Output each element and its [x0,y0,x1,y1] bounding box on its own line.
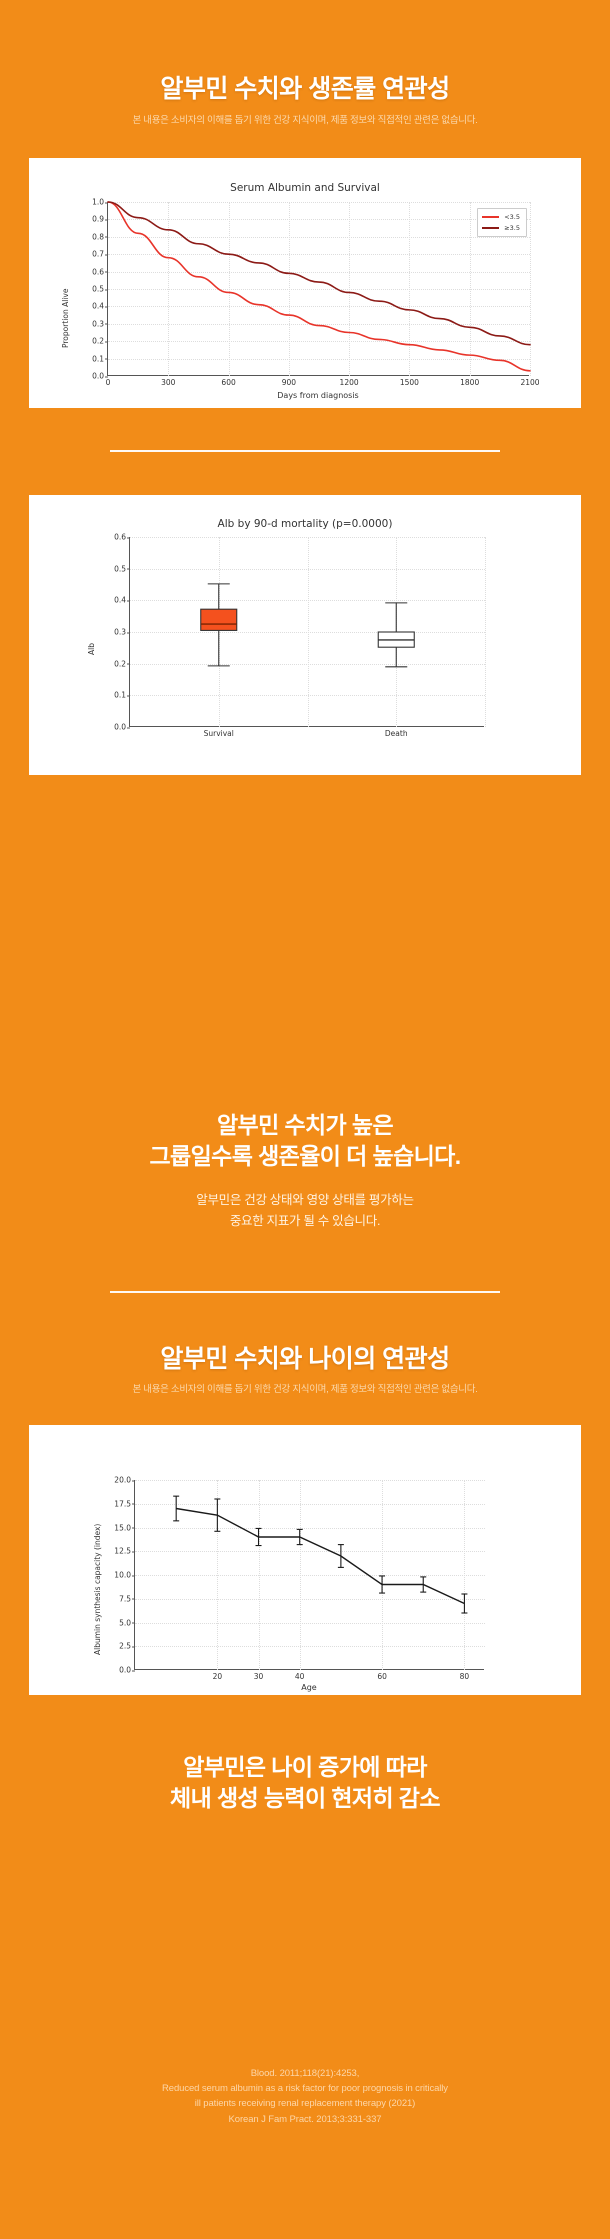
chart3-xtick: 80 [460,1672,470,1681]
chart2-ytick: 0.2 [114,659,126,668]
chart2-ytick: 0.5 [114,564,126,573]
chart1-axes: 0.0 0.1 0.2 0.3 0.4 0.5 0.6 0.7 0.8 0.9 … [107,202,529,376]
chart2-title: Alb by 90-d mortality (p=0.0000) [29,518,581,530]
chart1-xtick: 2100 [520,378,539,387]
chart2-ytick: 0.3 [114,628,126,637]
infographic-page: 알부민 수치와 생존률 연관성 본 내용은 소비자의 이해를 돕기 위한 건강 … [0,0,610,2239]
section3-disclaimer: 본 내용은 소비자의 이해를 돕기 위한 건강 지식이며, 제품 정보와 직접적… [0,1383,610,1397]
chart3-xtick: 40 [295,1672,305,1681]
chart1-xtick: 600 [221,378,235,387]
chart3-ytick: 15.0 [114,1523,131,1532]
chart3-ytick: 0.0 [119,1666,131,1675]
gridline [530,202,531,376]
chart2-axes: 0.0 0.1 0.2 0.3 0.4 0.5 0.6 Survival Dea… [129,537,484,727]
chart2-ytick: 0.6 [114,533,126,542]
chart1-ytick: 0.3 [92,319,104,328]
section4-title: 알부민은 나이 증가에 따라 체내 생성 능력이 현저히 감소 [0,1752,610,1814]
chart3-xtick: 30 [254,1672,264,1681]
chart1-ytick: 0.7 [92,250,104,259]
reference-line: ill patients receiving renal replacement… [0,2096,610,2111]
chart-card-age: Albumin synthesis capacity (index) 0.0 2… [29,1425,581,1695]
chart3-ytick: 20.0 [114,1476,131,1485]
section1-disclaimer: 본 내용은 소비자의 이해를 돕기 위한 건강 지식이며, 제품 정보와 직접적… [0,114,610,128]
chart1-ylabel: Proportion Alive [61,289,70,348]
chart1-ytick: 1.0 [92,198,104,207]
reference-line: Korean J Fam Pract. 2013;3:331-337 [0,2112,610,2127]
chart-card-survival: Serum Albumin and Survival Proportion Al… [29,158,581,408]
legend-item: ≥3.5 [482,224,520,232]
divider-2 [110,1291,500,1293]
chart1-ytick: 0.1 [92,354,104,363]
chart1-ytick: 0.2 [92,337,104,346]
chart2-ytick: 0.1 [114,691,126,700]
chart1-xtick: 0 [106,378,111,387]
section1-title: 알부민 수치와 생존률 연관성 [0,73,610,106]
chart3-series [135,1480,485,1670]
chart1-curves [108,202,530,376]
chart2-xtick: Death [385,729,408,738]
chart2-xtick: Survival [204,729,234,738]
chart1-ytick: 0.9 [92,215,104,224]
chart3-xtick: 20 [213,1672,223,1681]
chart3-ytick: 17.5 [114,1499,131,1508]
chart1-ytick: 0.8 [92,232,104,241]
references-block: Blood. 2011;118(21):4253, Reduced serum … [0,2066,610,2127]
chart1-legend: <3.5 ≥3.5 [477,208,527,237]
chart3-xtick: 60 [377,1672,387,1681]
chart3-ytick: 10.0 [114,1571,131,1580]
chart3-ytick: 2.5 [119,1642,131,1651]
chart3-axes: 0.0 2.5 5.0 7.5 10.0 12.5 15.0 17.5 20.0… [134,1480,484,1670]
chart3-ytick: 12.5 [114,1547,131,1556]
divider-1 [110,450,500,452]
chart-card-boxplot: Alb by 90-d mortality (p=0.0000) Alb 0.0… [29,495,581,775]
chart2-ytick: 0.4 [114,596,126,605]
chart1-xlabel: Days from diagnosis [107,391,529,400]
chart2-ylabel: Alb [87,643,96,655]
legend-swatch-low [482,216,499,218]
chart1-ytick: 0.5 [92,285,104,294]
chart3-xlabel: Age [134,1683,484,1692]
chart2-boxes [130,537,485,727]
chart1-xtick: 300 [161,378,175,387]
chart2-ytick: 0.0 [114,723,126,732]
legend-item: <3.5 [482,213,520,221]
reference-line: Reduced serum albumin as a risk factor f… [0,2081,610,2096]
legend-swatch-high [482,227,499,229]
chart3-ytick: 5.0 [119,1618,131,1627]
chart1-title: Serum Albumin and Survival [29,182,581,194]
chart1-ytick: 0.0 [92,372,104,381]
chart3-ytick: 7.5 [119,1594,131,1603]
gridline [485,537,486,727]
chart1-xtick: 1800 [460,378,479,387]
section2-body: 알부민은 건강 상태와 영양 상태를 평가하는 중요한 지표가 될 수 있습니다… [0,1190,610,1231]
chart1-xtick: 900 [282,378,296,387]
reference-line: Blood. 2011;118(21):4253, [0,2066,610,2081]
chart1-xtick: 1200 [340,378,359,387]
chart1-ytick: 0.6 [92,267,104,276]
chart1-xtick: 1500 [400,378,419,387]
legend-label: <3.5 [504,213,520,221]
section3-title: 알부민 수치와 나이의 연관성 [0,1343,610,1376]
chart3-ylabel: Albumin synthesis capacity (index) [93,1524,102,1655]
chart1-ytick: 0.4 [92,302,104,311]
legend-label: ≥3.5 [504,224,520,232]
section2-title: 알부민 수치가 높은 그룹일수록 생존율이 더 높습니다. [0,1110,610,1172]
